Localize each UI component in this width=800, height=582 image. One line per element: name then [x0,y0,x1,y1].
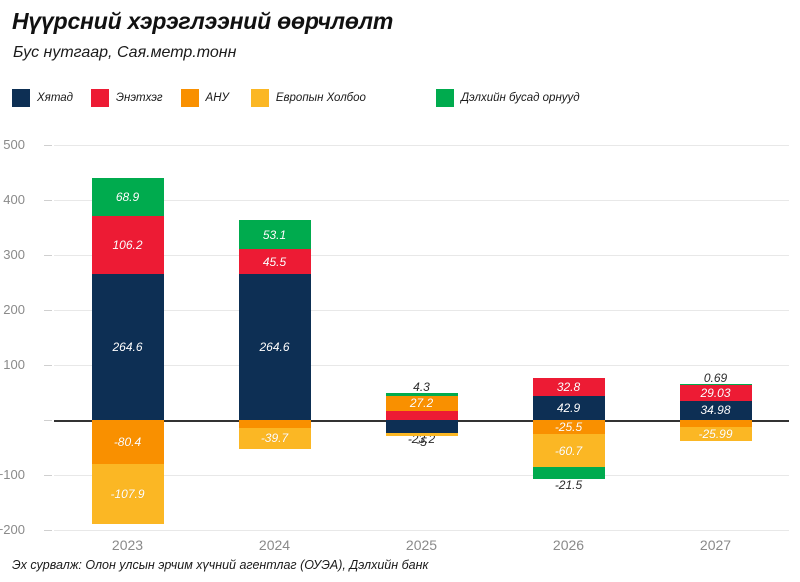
legend-swatch-icon [12,89,30,107]
y-axis-tick-mark [44,145,52,146]
y-axis-tick-mark [44,475,52,476]
y-axis-tick-label: 200 [0,302,25,317]
legend-swatch-icon [91,89,109,107]
bar-value-label: 29.03 [700,387,730,399]
y-axis-tick-label: 100 [0,357,25,372]
bar-value-label: 32.8 [557,381,580,393]
y-axis-tick-mark [44,255,52,256]
bar-value-label: -80.4 [114,436,141,448]
bar-group-2024[interactable]: 264.645.553.1-13.8-39.7 [239,145,311,530]
legend-item-label: Хятад [37,92,73,104]
legend-item-label: АНУ [206,92,229,104]
bar-segment[interactable]: 264.6 [92,274,164,420]
bar-segment[interactable]: -13.1 [680,420,752,427]
legend-item-label: Энэтхэг [116,92,163,104]
x-axis-tick-label: 2023 [68,537,188,553]
bar-segment[interactable]: 34.98 [680,401,752,420]
plot-area: 500400300200100−100−200264.6106.268.9-80… [54,145,789,530]
y-axis-tick-mark [44,365,52,366]
bar-group-2026[interactable]: 42.932.8-25.5-60.7-21.5 [533,145,605,530]
legend-item-label: Дэлхийн бусад орнууд [461,92,580,104]
bar-segment[interactable]: 106.2 [92,216,164,274]
gridline [54,530,789,531]
bar-value-label: -21.5 [555,479,582,491]
y-axis-tick-mark [44,200,52,201]
y-axis-tick-mark [44,420,52,421]
bar-value-label: 45.5 [263,256,286,268]
bar-value-label: 264.6 [112,341,142,353]
x-axis-tick-label: 2025 [362,537,482,553]
x-axis-tick-label: 2027 [656,537,776,553]
y-axis-tick-label: −200 [0,522,25,537]
chart-container: Нүүрсний хэрэглээний өөрчлөлт Бус нутгаа… [0,0,800,582]
bar-segment[interactable]: 45.5 [239,249,311,274]
bar-value-label: -25.99 [698,428,732,440]
chart-subtitle: Бус нутгаар, Сая.метр.тонн [13,44,236,62]
bar-segment[interactable]: 27.2 [386,396,458,411]
bar-value-label: -5 [416,436,427,448]
bar-value-label: 4.3 [413,381,430,393]
bar-segment[interactable]: -23.2 [386,420,458,433]
source-note: Эх сурвалж: Олон улсын эрчим хүчний аген… [12,558,428,572]
bar-value-label: 264.6 [259,341,289,353]
y-axis-tick-label: 500 [0,137,25,152]
bar-segment[interactable]: 264.6 [239,274,311,420]
x-axis-tick-label: 2026 [509,537,629,553]
legend-swatch-icon [181,89,199,107]
bar-segment[interactable]: 42.9 [533,396,605,420]
y-axis-tick-label: 400 [0,192,25,207]
bar-segment[interactable]: 68.9 [92,178,164,216]
bar-value-label: 53.1 [263,229,286,241]
bar-group-2023[interactable]: 264.6106.268.9-80.4-107.9 [92,145,164,530]
bar-segment[interactable]: 16.7 [386,411,458,420]
bar-segment[interactable]: -21.5 [533,467,605,479]
bar-segment[interactable]: -107.9 [92,464,164,523]
bar-value-label: -39.7 [261,432,288,444]
bar-group-2027[interactable]: 34.9829.030.69-13.1-25.99 [680,145,752,530]
legend-item-1[interactable]: Хятад [12,89,73,107]
bar-value-label: -107.9 [110,488,144,500]
page-title: Нүүрсний хэрэглээний өөрчлөлт [12,8,393,35]
legend-swatch-icon [251,89,269,107]
bar-value-label: 0.69 [704,372,727,384]
bar-segment[interactable]: -5 [386,433,458,436]
legend-item-label: Европын Холбоо [276,92,366,104]
bar-value-label: -25.5 [555,421,582,433]
legend-item-4[interactable]: Европын Холбоо [251,89,366,107]
bar-segment[interactable]: -13.8 [239,420,311,428]
chart-legend: ХятадЭнэтхэгАНУЕвропын ХолбооДэлхийн бус… [12,88,598,108]
bar-segment[interactable]: -25.5 [533,420,605,434]
bar-segment[interactable]: -60.7 [533,434,605,467]
bar-group-2025[interactable]: 16.727.24.3-23.2-5 [386,145,458,530]
y-axis-tick-mark [44,310,52,311]
legend-swatch-icon [436,89,454,107]
bar-segment[interactable]: -39.7 [239,428,311,450]
y-axis-tick-label: 300 [0,247,25,262]
legend-item-2[interactable]: Энэтхэг [91,89,163,107]
y-axis-tick-mark [44,530,52,531]
bar-segment[interactable]: 53.1 [239,220,311,249]
x-axis-tick-label: 2024 [215,537,335,553]
y-axis-tick-label: −100 [0,467,25,482]
bar-value-label: -60.7 [555,445,582,457]
legend-item-5[interactable]: Дэлхийн бусад орнууд [436,89,580,107]
bar-segment[interactable]: -80.4 [92,420,164,464]
bar-value-label: 42.9 [557,402,580,414]
bar-segment[interactable]: 32.8 [533,378,605,396]
bar-segment[interactable]: -25.99 [680,427,752,441]
bar-value-label: 27.2 [410,397,433,409]
bar-segment[interactable]: 4.3 [386,393,458,395]
bar-segment[interactable]: 29.03 [680,385,752,401]
bar-value-label: 68.9 [116,191,139,203]
bar-value-label: 106.2 [112,239,142,251]
legend-item-3[interactable]: АНУ [181,89,229,107]
bar-value-label: 34.98 [700,404,730,416]
